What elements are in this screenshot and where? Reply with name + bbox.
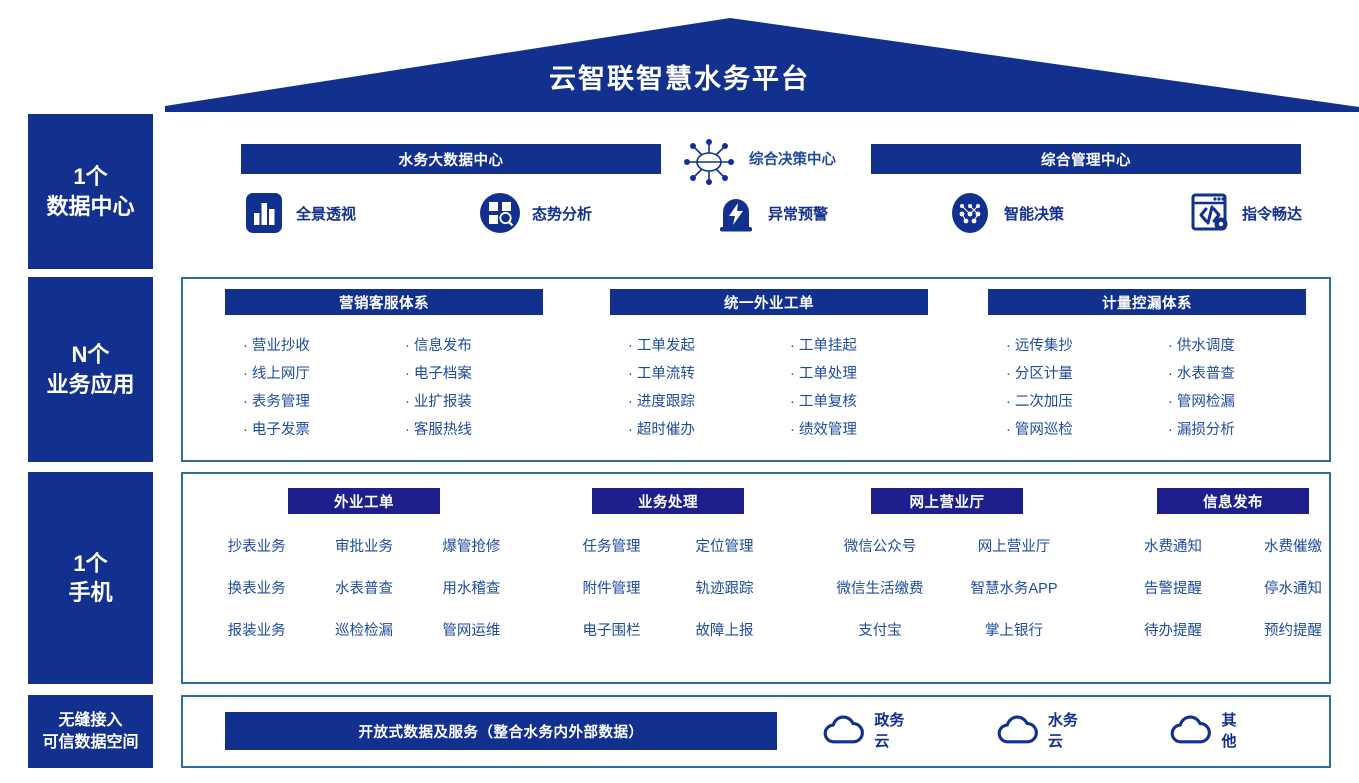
item-intelligent-decision[interactable]: 智能决策 — [951, 192, 1064, 234]
list-item[interactable]: 漏损分析 — [1168, 416, 1306, 444]
grid-item[interactable]: 掌上银行 — [947, 619, 1081, 640]
list-item[interactable]: 电子档案 — [405, 360, 543, 388]
cloud-icon — [823, 714, 864, 746]
cloud-list: 政务云 水务云 其他 — [823, 709, 1329, 751]
bar-water-big-data-center[interactable]: 水务大数据中心 — [241, 144, 661, 174]
row-label-mobile: 1个 手机 — [28, 472, 153, 684]
row-label-data-center: 1个 数据中心 — [28, 114, 153, 269]
group-column-a: 远传集抄 分区计量 二次加压 管网巡检 — [988, 332, 1144, 444]
grid-item[interactable]: 抄表业务 — [203, 535, 310, 556]
group-grid: 水费通知 水费催缴 告警提醒 停水通知 待办提醒 预约提醒 — [1113, 535, 1353, 640]
group-title-bar[interactable]: 网上营业厅 — [871, 488, 1023, 514]
row-label-line-1: N个 — [72, 340, 110, 369]
group-column-b: 供水调度 水表普查 管网检漏 漏损分析 — [1144, 332, 1306, 444]
smart-water-platform-diagram: 云智联智慧水务平台 1个 数据中心 水务大数据中心 — [0, 0, 1359, 783]
cloud-icon — [997, 714, 1038, 746]
list-item[interactable]: 远传集抄 — [1006, 332, 1144, 360]
item-panorama-perspective[interactable]: 全景透视 — [243, 192, 356, 234]
platform-roof-banner: 云智联智慧水务平台 — [0, 0, 1359, 112]
grid-item[interactable]: 巡检检漏 — [310, 619, 417, 640]
group-grid: 抄表业务 审批业务 爆管抢修 换表业务 水表普查 用水稽查 报装业务 巡检检漏 … — [203, 535, 525, 640]
grid-item[interactable]: 告警提醒 — [1113, 577, 1233, 598]
grid-item[interactable]: 支付宝 — [813, 619, 947, 640]
row-label-line-1: 无缝接入 — [58, 710, 122, 732]
item-label: 异常预警 — [768, 203, 828, 224]
item-command-delivery[interactable]: 指令畅达 — [1189, 192, 1302, 234]
neural-mesh-icon — [681, 139, 737, 185]
code-gear-icon — [1189, 192, 1231, 234]
list-item[interactable]: 工单处理 — [790, 360, 928, 388]
group-marketing-service-system: 营销客服体系 营业抄收 线上网厅 表务管理 电子发票 信息发布 电子档案 业扩报… — [225, 289, 543, 444]
list-item[interactable]: 管网检漏 — [1168, 388, 1306, 416]
list-item[interactable]: 供水调度 — [1168, 332, 1306, 360]
list-item[interactable]: 管网巡检 — [1006, 416, 1144, 444]
row-body-data-space: 开放式数据及服务（整合水务内外部数据） 政务云 水务云 — [181, 695, 1331, 768]
group-metering-leakage-control-system: 计量控漏体系 远传集抄 分区计量 二次加压 管网巡检 供水调度 水表普查 管网检… — [988, 289, 1306, 444]
row-label-line-2: 业务应用 — [46, 370, 134, 399]
cloud-icon — [1170, 714, 1211, 746]
list-item[interactable]: 绩效管理 — [790, 416, 928, 444]
list-item[interactable]: 营业抄收 — [243, 332, 381, 360]
item-label: 态势分析 — [532, 203, 592, 224]
cloud-item-government[interactable]: 政务云 — [823, 709, 919, 751]
group-grid: 微信公众号 网上营业厅 微信生活缴费 智慧水务APP 支付宝 掌上银行 — [813, 535, 1081, 640]
group-column-a: 营业抄收 线上网厅 表务管理 电子发票 — [225, 332, 381, 444]
item-label: 全景透视 — [296, 203, 356, 224]
list-item[interactable]: 分区计量 — [1006, 360, 1144, 388]
group-title-bar[interactable]: 信息发布 — [1157, 488, 1309, 514]
row-mobile: 1个 手机 外业工单 抄表业务 审批业务 爆管抢修 换表业务 水表普查 用水稽查… — [0, 472, 1359, 684]
item-label: 指令畅达 — [1242, 203, 1302, 224]
group-column-a: 工单发起 工单流转 进度跟踪 超时催办 — [610, 332, 766, 444]
group-information-release: 信息发布 水费通知 水费催缴 告警提醒 停水通知 待办提醒 预约提醒 — [1113, 488, 1353, 640]
group-grid: 任务管理 定位管理 附件管理 轨迹跟踪 电子围栏 故障上报 — [555, 535, 781, 640]
grid-item[interactable]: 爆管抢修 — [418, 535, 525, 556]
bar-open-data-and-services[interactable]: 开放式数据及服务（整合水务内外部数据） — [225, 712, 777, 750]
list-item[interactable]: 工单复核 — [790, 388, 928, 416]
row-label-line-2: 可信数据空间 — [42, 732, 138, 754]
grid-item[interactable]: 换表业务 — [203, 577, 310, 598]
list-item[interactable]: 工单发起 — [628, 332, 766, 360]
group-field-work-order: 外业工单 抄表业务 审批业务 爆管抢修 换表业务 水表普查 用水稽查 报装业务 … — [203, 488, 525, 640]
group-title-bar[interactable]: 营销客服体系 — [225, 289, 543, 315]
list-item[interactable]: 客服热线 — [405, 416, 543, 444]
grid-item[interactable]: 附件管理 — [555, 577, 668, 598]
row-label-business-applications: N个 业务应用 — [28, 277, 153, 462]
grid-item[interactable]: 故障上报 — [668, 619, 781, 640]
grid-item[interactable]: 水费通知 — [1113, 535, 1233, 556]
grid-item[interactable]: 任务管理 — [555, 535, 668, 556]
grid-item[interactable]: 报装业务 — [203, 619, 310, 640]
group-unified-field-work-order: 统一外业工单 工单发起 工单流转 进度跟踪 超时催办 工单挂起 工单处理 工单复… — [610, 289, 928, 444]
data-center-bar-group: 水务大数据中心 — [181, 144, 1331, 174]
row-data-center: 1个 数据中心 水务大数据中心 — [0, 114, 1359, 269]
list-item[interactable]: 信息发布 — [405, 332, 543, 360]
group-online-service-hall: 网上营业厅 微信公众号 网上营业厅 微信生活缴费 智慧水务APP 支付宝 掌上银… — [813, 488, 1081, 640]
grid-item[interactable]: 停水通知 — [1233, 577, 1353, 598]
grid-item[interactable]: 待办提醒 — [1113, 619, 1233, 640]
group-business-processing: 业务处理 任务管理 定位管理 附件管理 轨迹跟踪 电子围栏 故障上报 — [555, 488, 781, 640]
label-comprehensive-decision-center: 综合决策中心 — [749, 148, 879, 169]
grid-item[interactable]: 微信生活缴费 — [813, 577, 947, 598]
data-center-icon-row: 全景透视 态势分析 — [181, 192, 1331, 248]
alarm-bolt-icon — [715, 192, 757, 234]
grid-item[interactable]: 水费催缴 — [1233, 535, 1353, 556]
list-item[interactable]: 业扩报装 — [405, 388, 543, 416]
page-title: 云智联智慧水务平台 — [0, 57, 1359, 96]
row-body-business-applications: 营销客服体系 营业抄收 线上网厅 表务管理 电子发票 信息发布 电子档案 业扩报… — [181, 277, 1331, 462]
item-abnormal-alert[interactable]: 异常预警 — [715, 192, 828, 234]
row-label-line-1: 1个 — [73, 549, 107, 578]
grid-item[interactable]: 智慧水务APP — [947, 577, 1081, 598]
row-label-line-2: 数据中心 — [46, 192, 134, 221]
group-title-bar[interactable]: 业务处理 — [592, 488, 744, 514]
row-body-data-center: 水务大数据中心 — [181, 114, 1331, 269]
grid-item[interactable]: 管网运维 — [418, 619, 525, 640]
grid-item[interactable]: 预约提醒 — [1233, 619, 1353, 640]
group-column-b: 信息发布 电子档案 业扩报装 客服热线 — [381, 332, 543, 444]
item-situation-analysis[interactable]: 态势分析 — [479, 192, 592, 234]
bar-comprehensive-management-center[interactable]: 综合管理中心 — [871, 144, 1301, 174]
grid-item[interactable]: 微信公众号 — [813, 535, 947, 556]
list-item[interactable]: 电子发票 — [243, 416, 381, 444]
group-title-bar[interactable]: 外业工单 — [288, 488, 440, 514]
row-label-data-space: 无缝接入 可信数据空间 — [28, 695, 153, 768]
grid-item[interactable]: 审批业务 — [310, 535, 417, 556]
row-label-line-2: 手机 — [68, 578, 112, 607]
list-item[interactable]: 二次加压 — [1006, 388, 1144, 416]
grid-item[interactable]: 网上营业厅 — [947, 535, 1081, 556]
grid-item[interactable]: 轨迹跟踪 — [668, 577, 781, 598]
list-item[interactable]: 工单挂起 — [790, 332, 928, 360]
cloud-item-water[interactable]: 水务云 — [997, 709, 1093, 751]
list-item[interactable]: 超时催办 — [628, 416, 766, 444]
neural-network-icon — [951, 192, 993, 234]
row-business-applications: N个 业务应用 营销客服体系 营业抄收 线上网厅 表务管理 电子发票 信息发布 … — [0, 277, 1359, 462]
grid-search-icon — [479, 192, 521, 234]
list-item[interactable]: 水表普查 — [1168, 360, 1306, 388]
group-title-bar[interactable]: 计量控漏体系 — [988, 289, 1306, 315]
row-label-line-1: 1个 — [73, 162, 107, 191]
item-label: 智能决策 — [1004, 203, 1064, 224]
grid-item[interactable]: 水表普查 — [310, 577, 417, 598]
group-title-bar[interactable]: 统一外业工单 — [610, 289, 928, 315]
list-item[interactable]: 表务管理 — [243, 388, 381, 416]
row-body-mobile: 外业工单 抄表业务 审批业务 爆管抢修 换表业务 水表普查 用水稽查 报装业务 … — [181, 472, 1331, 684]
cloud-label: 其他 — [1221, 709, 1251, 751]
bar-chart-icon — [243, 192, 285, 234]
list-item[interactable]: 线上网厅 — [243, 360, 381, 388]
grid-item[interactable]: 电子围栏 — [555, 619, 668, 640]
row-data-space: 无缝接入 可信数据空间 开放式数据及服务（整合水务内外部数据） 政务云 水务云 — [0, 695, 1359, 768]
cloud-label: 政务云 — [874, 709, 918, 751]
cloud-label: 水务云 — [1048, 709, 1092, 751]
list-item[interactable]: 工单流转 — [628, 360, 766, 388]
grid-item[interactable]: 定位管理 — [668, 535, 781, 556]
cloud-item-other[interactable]: 其他 — [1170, 709, 1251, 751]
group-column-b: 工单挂起 工单处理 工单复核 绩效管理 — [766, 332, 928, 444]
list-item[interactable]: 进度跟踪 — [628, 388, 766, 416]
grid-item[interactable]: 用水稽查 — [418, 577, 525, 598]
